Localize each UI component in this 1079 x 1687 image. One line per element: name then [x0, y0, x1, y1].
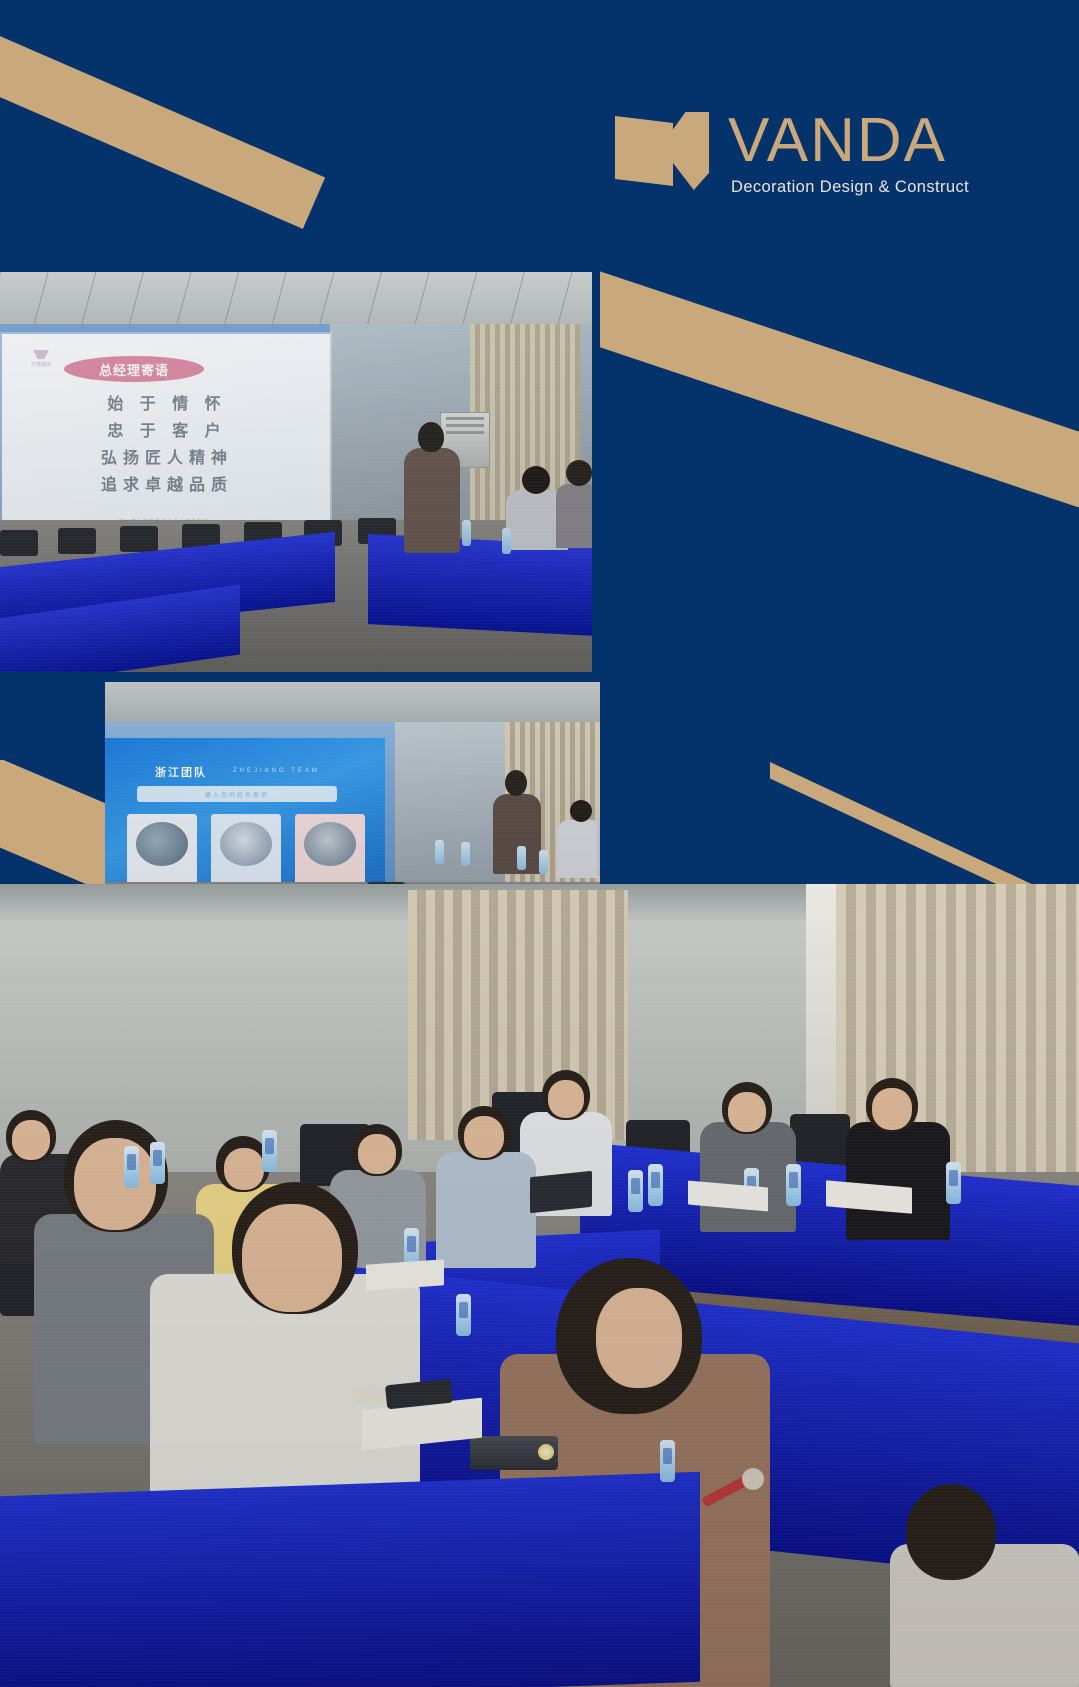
vanda-cube-mark-icon: [615, 112, 710, 190]
upper-right-diagonal-stripe: [600, 268, 1079, 596]
photo-presenter-with-slide: 方德装饰 总经理寄语 始 于 情 怀 忠 于 客 户 弘扬匠人精神 追求卓越品质…: [0, 272, 592, 672]
water-bottle: [435, 840, 444, 864]
upper-right-stripe-region: [600, 260, 1079, 780]
paper-sheet: [366, 1259, 444, 1290]
draped-table: [0, 1472, 700, 1687]
presenter-head: [505, 770, 527, 796]
water-bottle: [660, 1440, 675, 1482]
attendee-body: [557, 820, 600, 878]
chair: [120, 526, 158, 552]
slide-logo-text: 方德装饰: [20, 361, 62, 368]
attendee-head: [566, 460, 592, 486]
attendee-head: [570, 800, 592, 822]
attendee-body: [556, 484, 592, 548]
water-bottle: [461, 842, 470, 866]
poster-canvas: VANDA Decoration Design & Construct 方德装饰…: [0, 0, 1079, 1687]
photo-wide-training-room: [0, 884, 1079, 1687]
slide-search-placeholder: 输入您的姓名查询: [205, 790, 269, 799]
chair: [58, 528, 96, 554]
ceiling-grid: [0, 272, 592, 330]
water-bottle: [786, 1164, 801, 1206]
brand-tagline: Decoration Design & Construct: [731, 178, 969, 197]
lollipop: [742, 1468, 764, 1490]
slide-line-2: 忠 于 客 户: [107, 417, 226, 441]
water-bottle: [946, 1162, 961, 1204]
projection-screen: 方德装饰 总经理寄语 始 于 情 怀 忠 于 客 户 弘扬匠人精神 追求卓越品质…: [2, 334, 330, 534]
water-bottle: [517, 846, 526, 870]
slide-line-3: 弘扬匠人精神: [101, 444, 233, 468]
water-bottle: [262, 1130, 277, 1172]
logo-shape-right: [671, 112, 709, 190]
slide-heading-pill: 总经理寄语: [64, 356, 204, 382]
slide-body-lines: 始 于 情 怀 忠 于 客 户 弘扬匠人精神 追求卓越品质: [32, 390, 302, 495]
water-bottle: [462, 520, 471, 546]
brand-name: VANDA: [728, 112, 969, 171]
card-photo: [304, 822, 356, 866]
projector: [470, 1436, 558, 1470]
water-bottle: [124, 1146, 139, 1188]
slide-heading: 浙江团队: [155, 764, 207, 780]
presenter-head: [418, 422, 444, 452]
water-bottle: [502, 528, 511, 554]
slide-line-4: 追求卓越品质: [101, 471, 233, 495]
ceiling: [105, 682, 600, 726]
card-photo: [136, 822, 188, 866]
presenter-body: [404, 448, 460, 553]
brand-lockup: VANDA Decoration Design & Construct: [615, 112, 969, 197]
projection-screen: 浙江团队 ZHEJIANG TEAM 输入您的姓名查询: [105, 738, 385, 898]
slide-heading: 总经理寄语: [99, 360, 169, 379]
logo-shape-left: [615, 116, 673, 186]
attendee-body: [597, 812, 600, 876]
top-left-diagonal-stripe: [0, 10, 325, 229]
slide-heading-en: ZHEJIANG TEAM: [233, 768, 320, 774]
card-photo: [220, 822, 272, 866]
water-bottle: [628, 1170, 643, 1212]
water-bottle: [539, 850, 548, 874]
brand-text-block: VANDA Decoration Design & Construct: [728, 112, 969, 197]
laptop: [530, 1171, 592, 1214]
slide-line-1: 始 于 情 怀: [107, 390, 226, 414]
chair: [0, 530, 38, 556]
slide-logo-icon: 方德装饰: [20, 350, 62, 374]
water-bottle: [648, 1164, 663, 1206]
water-bottle: [150, 1142, 165, 1184]
slide-search-bar: 输入您的姓名查询: [137, 786, 337, 802]
water-bottle: [456, 1294, 471, 1336]
attendee-head: [522, 466, 550, 494]
